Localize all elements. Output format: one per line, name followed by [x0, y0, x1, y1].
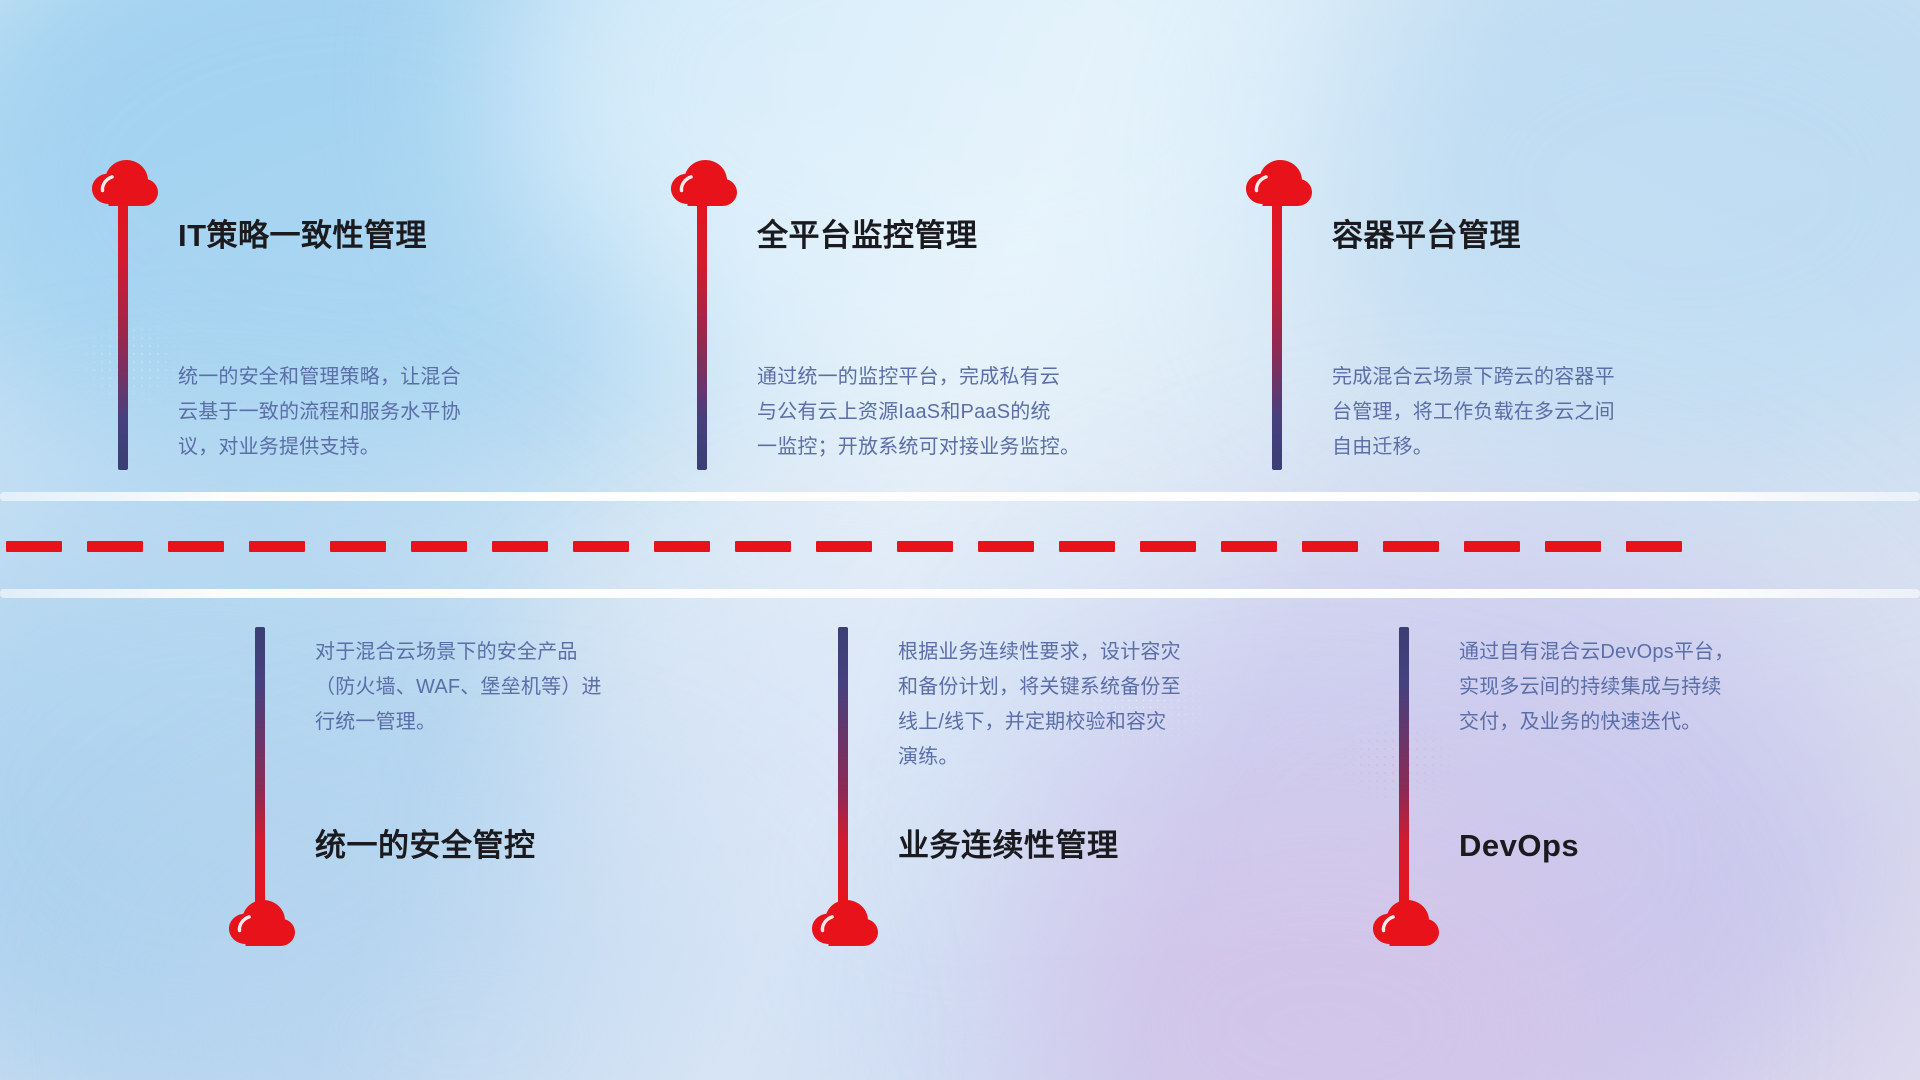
divider-dash	[735, 541, 791, 552]
stem-line	[838, 627, 848, 912]
feature-body: 统一的安全和管理策略，让混合 云基于一致的流程和服务水平协 议，对业务提供支持。	[178, 360, 608, 465]
divider-dash	[6, 541, 62, 552]
feature-body: 根据业务连续性要求，设计容灾 和备份计划，将关键系统备份至 线上/线下，并定期校…	[898, 635, 1328, 775]
stem-line	[697, 185, 707, 470]
divider-dash	[1221, 541, 1277, 552]
divider-dash	[1302, 541, 1358, 552]
divider-dash	[978, 541, 1034, 552]
feature-title: 全平台监控管理	[757, 220, 978, 251]
divider-dash	[492, 541, 548, 552]
divider-rail-bottom	[0, 589, 1920, 598]
cloud-icon	[1246, 160, 1312, 206]
divider-dash	[249, 541, 305, 552]
divider-dash	[411, 541, 467, 552]
speckle-texture	[1325, 713, 1465, 808]
divider-dashed-line	[0, 540, 1920, 552]
divider-dash	[897, 541, 953, 552]
cloud-icon	[671, 160, 737, 206]
feature-title: 容器平台管理	[1332, 220, 1521, 251]
divider-dash	[168, 541, 224, 552]
divider-dash	[1464, 541, 1520, 552]
feature-body: 完成混合云场景下跨云的容器平 台管理，将工作负载在多云之间 自由迁移。	[1332, 360, 1762, 465]
infographic-canvas: IT策略一致性管理 统一的安全和管理策略，让混合 云基于一致的流程和服务水平协 …	[0, 0, 1920, 1080]
cloud-icon	[812, 900, 878, 946]
divider-dash	[816, 541, 872, 552]
divider-dash	[573, 541, 629, 552]
feature-body: 通过统一的监控平台，完成私有云 与公有云上资源IaaS和PaaS的统 一监控；开…	[757, 360, 1207, 465]
feature-body: 通过自有混合云DevOps平台， 实现多云间的持续集成与持续 交付，及业务的快速…	[1459, 635, 1889, 740]
feature-title: 统一的安全管控	[315, 830, 536, 861]
divider-dash	[330, 541, 386, 552]
divider-dash	[1059, 541, 1115, 552]
feature-title: DevOps	[1459, 830, 1579, 861]
cloud-icon	[92, 160, 158, 206]
divider-rail-top	[0, 492, 1920, 501]
divider-dash	[87, 541, 143, 552]
divider-dash	[1545, 541, 1601, 552]
cloud-icon	[229, 900, 295, 946]
stem-line	[118, 185, 128, 470]
divider-dash	[1140, 541, 1196, 552]
divider-dash	[654, 541, 710, 552]
feature-body: 对于混合云场景下的安全产品 （防火墙、WAF、堡垒机等）进 行统一管理。	[315, 635, 745, 740]
stem-line	[1399, 627, 1409, 912]
stem-line	[255, 627, 265, 912]
cloud-icon	[1373, 900, 1439, 946]
stem-line	[1272, 185, 1282, 470]
feature-title: IT策略一致性管理	[178, 220, 427, 251]
divider-dash	[1626, 541, 1682, 552]
feature-title: 业务连续性管理	[898, 830, 1119, 861]
divider-dash	[1383, 541, 1439, 552]
